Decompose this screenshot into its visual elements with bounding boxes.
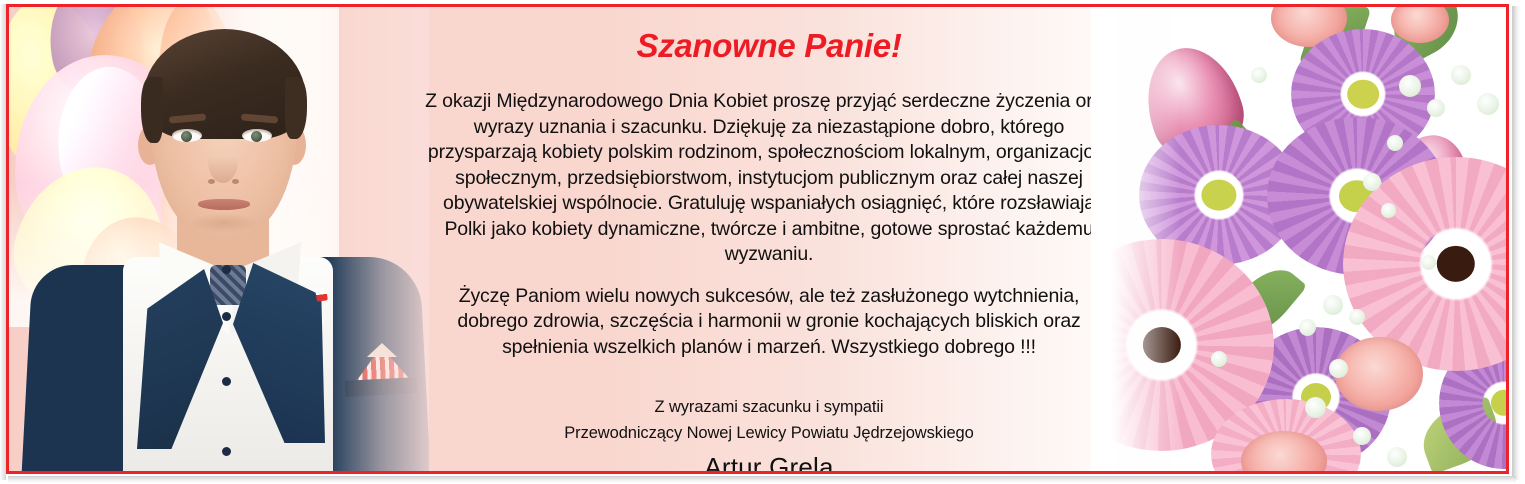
- signature-closing: Z wyrazami szacunku i sympatii: [409, 394, 1129, 420]
- signature-name: Artur Grela: [409, 452, 1129, 474]
- greeting-title: Szanowne Panie!: [409, 7, 1129, 65]
- hair: [143, 29, 306, 139]
- message-block: Szanowne Panie! Z okazji Międzynarodoweg…: [409, 7, 1129, 474]
- message-paragraph-1: Z okazji Międzynarodowego Dnia Kobiet pr…: [409, 89, 1129, 268]
- shirt-button: [222, 377, 231, 386]
- nose: [208, 139, 238, 183]
- chin-shadow: [187, 213, 261, 233]
- signature-title: Przewodniczący Nowej Lewicy Powiatu Jędr…: [409, 420, 1129, 446]
- message-paragraph-2: Życzę Paniom wielu nowych sukcesów, ale …: [409, 284, 1129, 361]
- gypsophila: [1353, 427, 1371, 445]
- portrait-panel: [9, 7, 429, 471]
- gypsophila: [1363, 173, 1381, 191]
- gypsophila: [1387, 135, 1403, 151]
- gypsophila: [1421, 255, 1436, 270]
- polish-flag-lapel-pin: [315, 287, 328, 301]
- card-shadow-right: [1512, 6, 1520, 480]
- gypsophila: [1251, 67, 1267, 83]
- carnation-pink: [1335, 337, 1423, 411]
- greeting-card: Szanowne Panie! Z okazji Międzynarodoweg…: [6, 4, 1509, 474]
- nostril-right: [232, 179, 239, 184]
- flower-bouquet: [1091, 7, 1506, 474]
- gypsophila: [1329, 359, 1348, 378]
- gypsophila: [1387, 447, 1407, 467]
- gypsophila: [1211, 351, 1227, 367]
- portrait-photo-man: [27, 7, 417, 471]
- gypsophila: [1399, 75, 1421, 97]
- card-shadow-bottom: [8, 476, 1516, 483]
- iris-left: [181, 131, 192, 142]
- gypsophila: [1427, 99, 1445, 117]
- shirt-button: [222, 312, 231, 321]
- gypsophila: [1305, 397, 1326, 418]
- gypsophila: [1299, 319, 1316, 336]
- bouquet-fade-overlay: [1091, 7, 1181, 474]
- hair-side-left: [141, 77, 163, 143]
- nostril-left: [208, 179, 215, 184]
- mouth: [198, 199, 250, 210]
- gypsophila: [1323, 295, 1343, 315]
- iris-right: [251, 131, 262, 142]
- gypsophila: [1349, 309, 1365, 325]
- signature-block: Z wyrazami szacunku i sympatii Przewodni…: [409, 394, 1129, 474]
- gypsophila: [1381, 203, 1396, 218]
- shirt-button: [222, 447, 231, 456]
- gypsophila: [1477, 93, 1499, 115]
- gypsophila: [1451, 65, 1471, 85]
- hair-side-right: [285, 77, 307, 139]
- shirt-button: [222, 265, 231, 274]
